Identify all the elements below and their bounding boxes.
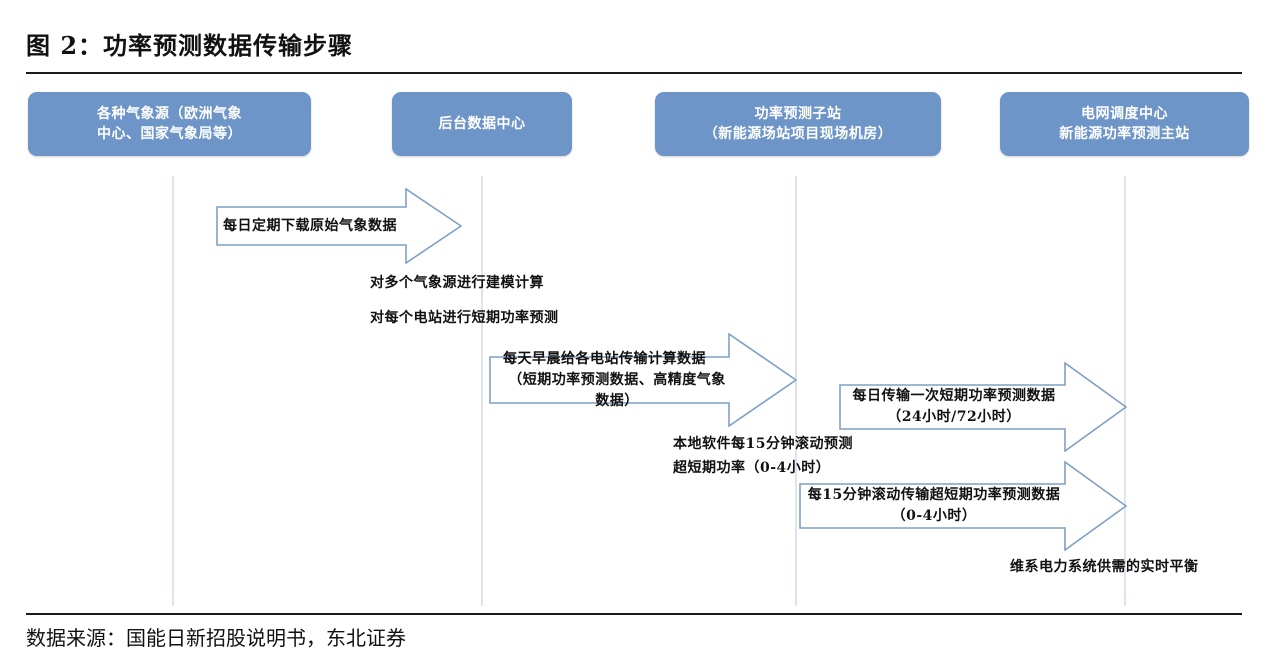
arrow-download-raw-weather-data[interactable]: 每日定期下载原始气象数据	[216, 188, 462, 264]
lane-line-backend-data-center	[481, 176, 483, 606]
lane-label-power-forecast-substation: 功率预测子站 （新能源场站项目现场机房）	[704, 104, 893, 145]
arrow-daily-short-term-forecast-upload[interactable]: 每日传输一次短期功率预测数据 （24小时/72小时）	[839, 362, 1127, 452]
lane-box-power-forecast-substation[interactable]: 功率预测子站 （新能源场站项目现场机房）	[655, 92, 941, 156]
lane-box-weather-sources[interactable]: 各种气象源（欧洲气象 中心、国家气象局等）	[28, 92, 311, 156]
arrow-shape-4	[799, 461, 1127, 551]
note-local-software-rolling-forecast-line1: 本地软件每15分钟滚动预测	[673, 433, 853, 455]
arrow-morning-transfer-to-stations[interactable]: 每天早晨给各电站传输计算数据 （短期功率预测数据、高精度气象数据）	[489, 333, 797, 427]
arrow-rolling-ultra-short-term-upload[interactable]: 每15分钟滚动传输超短期功率预测数据 （0-4小时）	[799, 461, 1127, 551]
figure-title: 图 2：功率预测数据传输步骤	[26, 26, 353, 61]
lane-label-weather-sources: 各种气象源（欧洲气象 中心、国家气象局等）	[97, 104, 242, 145]
note-maintain-realtime-balance: 维系电力系统供需的实时平衡	[1010, 556, 1199, 578]
lane-box-grid-dispatch-center[interactable]: 电网调度中心 新能源功率预测主站	[1000, 92, 1249, 156]
lane-label-backend-data-center: 后台数据中心	[439, 114, 526, 134]
arrow-shape-1	[216, 188, 462, 264]
figure-canvas: 图 2：功率预测数据传输步骤 各种气象源（欧洲气象 中心、国家气象局等） 后台数…	[0, 0, 1269, 671]
lane-box-backend-data-center[interactable]: 后台数据中心	[392, 92, 572, 156]
note-per-station-short-term-forecast: 对每个电站进行短期功率预测	[370, 307, 559, 329]
arrow-shape-3	[839, 362, 1127, 452]
title-divider-top	[26, 72, 1242, 74]
source-divider-bottom	[26, 613, 1242, 615]
lane-label-grid-dispatch-center: 电网调度中心 新能源功率预测主站	[1059, 104, 1190, 145]
note-multi-source-modeling: 对多个气象源进行建模计算	[370, 272, 544, 294]
figure-source: 数据来源：国能日新招股说明书，东北证券	[26, 622, 406, 651]
lane-line-weather-sources	[172, 176, 174, 606]
arrow-shape-2	[489, 333, 797, 427]
